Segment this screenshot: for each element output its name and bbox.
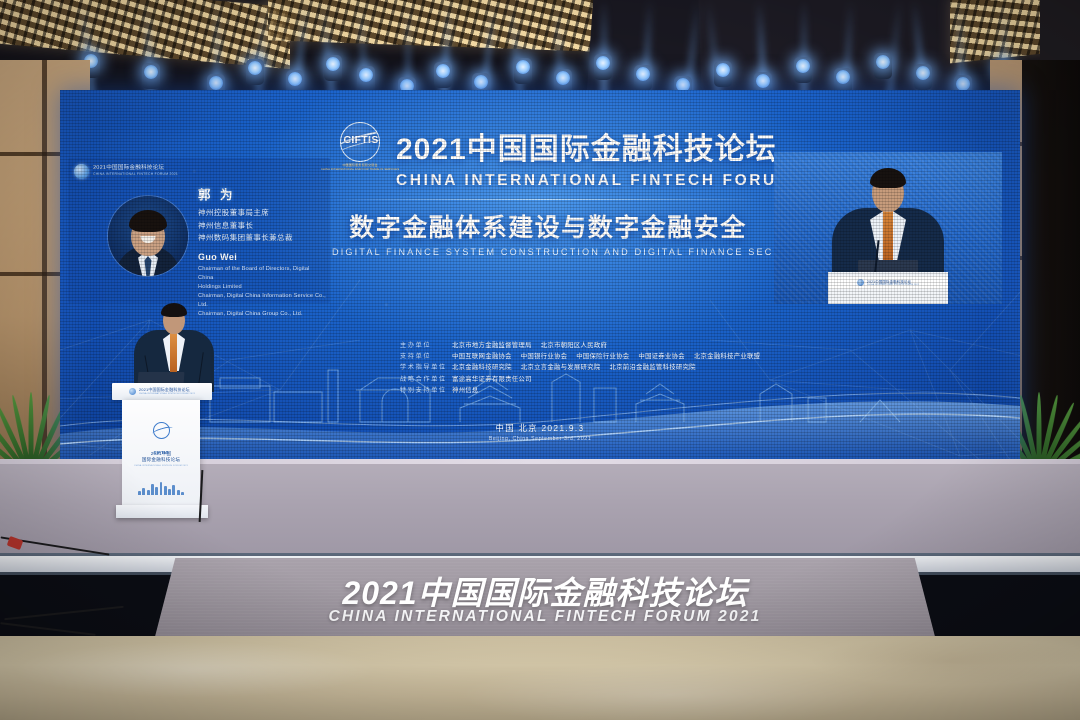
organizer-values: 北京市地方金融监督管理局北京市朝阳区人民政府 (452, 340, 607, 349)
speaker-title-en: Chairman, Digital China Group Co., Ltd. (198, 310, 326, 319)
organizer-row: 战略合作单位富途高华证券有限责任公司 (400, 374, 870, 383)
ciftis-globe-icon: CIFTIS (153, 422, 170, 439)
podium-body: CIFTIS 2021中国 国际金融科技论坛 CHINA INTERNATION… (122, 400, 200, 505)
ceiling-light-panel (268, 0, 598, 52)
floor-cable (4, 606, 124, 621)
forum-theme-en: DIGITAL FINANCE SYSTEM CONSTRUCTION AND … (332, 247, 764, 257)
stage-light-fixture (794, 57, 812, 83)
feed-podium-nameplate: 2021中国国际金融科技论坛 CHINA INTERNATIONAL FINTE… (828, 276, 948, 289)
ciftis-globe-icon (857, 279, 864, 286)
organizer-name: 富途高华证券有限责任公司 (452, 374, 532, 383)
skyline-bar (155, 487, 158, 495)
organizer-row: 特别支持单位神州信息 (400, 385, 870, 394)
speaker-name-en: Guo Wei (198, 252, 326, 262)
organizer-name: 北京金融科技产业联盟 (694, 351, 760, 360)
conference-stage-scene: 2021中国国际金融科技论坛 CHINA INTERNATIONAL FINTE… (0, 0, 1080, 720)
stage-light-fixture (874, 53, 892, 79)
speaker-title-cn: 神州数码集团董事长兼总裁 (198, 232, 326, 245)
stage-light-fixture (357, 66, 375, 92)
organizer-name: 中国证券业协会 (638, 351, 684, 360)
organizer-name: 北京立言金融与发展研究院 (521, 362, 601, 371)
ciftis-globe-icon: CIFTIS (340, 122, 380, 162)
organizer-values: 中国互联网金融协会中国银行业协会中国保险行业协会中国证券业协会北京金融科技产业联… (452, 351, 760, 360)
card-corner-logo: 2021中国国际金融科技论坛 CHINA INTERNATIONAL FINTE… (74, 162, 204, 180)
organizer-values: 富途高华证券有限责任公司 (452, 374, 532, 383)
live-video-feed: 2021中国国际金融科技论坛 CHINA INTERNATIONAL FINTE… (774, 152, 1002, 304)
organizer-name: 北京金融科技研究院 (452, 362, 512, 371)
light-beam (600, 0, 608, 95)
speaker-name-cn: 郭 为 (198, 184, 326, 203)
skyline-bar (168, 489, 171, 495)
organizer-name: 中国银行业协会 (521, 351, 567, 360)
organizer-values: 神州信息 (452, 385, 479, 394)
podium: 2021中国国际金融科技论坛 CHINA INTERNATIONAL FINTE… (116, 383, 208, 518)
feed-podium: 2021中国国际金融科技论坛 CHINA INTERNATIONAL FINTE… (828, 272, 948, 304)
speaker-titles-cn: 神州控股董事局主席 神州信息董事长 神州数码集团董事长兼总裁 (198, 207, 326, 245)
podium-nameplate-cn: 2021中国国际金融科技论坛 (139, 388, 195, 392)
avatar (108, 196, 188, 276)
speaker-title-en: Chairman of the Board of Directors, Digi… (198, 265, 326, 283)
ciftis-wordmark: CIFTIS (341, 134, 380, 146)
stage-light-fixture (634, 65, 652, 91)
speaker-info-card: 2021中国国际金融科技论坛 CHINA INTERNATIONAL FINTE… (68, 158, 330, 303)
forum-title-block: CIFTIS 中国国际服务贸易交易会 CHINA INTERNATIONAL F… (332, 122, 764, 257)
organizer-name: 北京市朝阳区人民政府 (541, 340, 607, 349)
front-sign-title-cn: 2021中国国际金融科技论坛 (150, 568, 940, 614)
skyline-bar (160, 482, 163, 495)
speaker-title-cn: 神州控股董事局主席 (198, 207, 326, 220)
organizer-row: 学术指导单位北京金融科技研究院北京立言金融与发展研究院北京前沿金融监管科技研究院 (400, 362, 870, 371)
forum-theme-cn: 数字金融体系建设与数字金融安全 (332, 208, 764, 244)
podium-nameplate: 2021中国国际金融科技论坛 CHINA INTERNATIONAL FINTE… (112, 383, 212, 400)
organizer-label: 战略合作单位 (400, 374, 452, 383)
skyline-bar (172, 485, 175, 495)
card-logo-cn: 2021中国国际金融科技论坛 (93, 166, 178, 172)
page-title: 2021中国国际金融科技论坛 (396, 124, 777, 168)
organizer-name: 中国互联网金融协会 (452, 351, 512, 360)
organizer-row: 支持单位中国互联网金融协会中国银行业协会中国保险行业协会中国证券业协会北京金融科… (400, 351, 870, 360)
ciftis-sub-en: CHINA INTERNATIONAL FAIR FOR TRADE IN SE… (321, 168, 399, 171)
organizer-label: 特别支持单位 (400, 385, 452, 394)
podium-skyline-graphic (138, 481, 184, 495)
organizer-name: 中国保险行业协会 (576, 351, 629, 360)
page-title-en: CHINA INTERNATIONAL FINTECH FORUM 2021 (396, 172, 764, 190)
stage-light-fixture (514, 58, 532, 84)
podium-base (116, 505, 208, 518)
organizer-values: 北京金融科技研究院北京立言金融与发展研究院北京前沿金融监管科技研究院 (452, 362, 696, 371)
skyline-bar (181, 492, 184, 495)
speaker-text-block: 郭 为 神州控股董事局主席 神州信息董事长 神州数码集团董事长兼总裁 Guo W… (198, 184, 326, 319)
organizer-name: 北京前沿金融监管科技研究院 (609, 362, 695, 371)
stage-light-fixture (914, 64, 932, 90)
speaker-figure-sash (170, 333, 177, 373)
stage-light-fixture (714, 61, 732, 87)
venue-floor (0, 636, 1080, 720)
skyline-bar (177, 490, 180, 495)
front-sign-title-en: CHINA INTERNATIONAL FINTECH FORUM 2021 (150, 608, 940, 626)
card-logo-en: CHINA INTERNATIONAL FINTECH FORUM 2021 (93, 173, 178, 176)
speaker-titles-en: Chairman of the Board of Directors, Digi… (198, 265, 326, 319)
stage-light-fixture (324, 55, 342, 81)
organizer-label: 支持单位 (400, 351, 452, 360)
ciftis-globe-icon (74, 164, 89, 179)
feed-caption-en: CHINA INTERNATIONAL FINTECH FORUM 2021 (867, 284, 919, 286)
speaker-title-cn: 神州信息董事长 (198, 220, 326, 233)
ciftis-globe-icon (129, 388, 136, 395)
organizer-credits: 主办单位北京市地方金融监督管理局北京市朝阳区人民政府支持单位中国互联网金融协会中… (400, 340, 870, 396)
speaker-title-en: Chairman, Digital China Information Serv… (198, 292, 326, 310)
organizer-row: 主办单位北京市地方金融监督管理局北京市朝阳区人民政府 (400, 340, 870, 349)
stage-light-fixture (246, 59, 264, 85)
stage-light-fixture (594, 54, 612, 80)
stage-light-fixture (434, 62, 452, 88)
stage-light-fixture (142, 63, 160, 89)
podium-crest-en: CHINA INTERNATIONAL FINTECH FORUM 2021 (124, 465, 198, 467)
organizer-name: 神州信息 (452, 385, 479, 394)
speaker-title-en: Holdings Limited (198, 283, 326, 292)
skyline-bar (138, 491, 141, 495)
ciftis-logo: CIFTIS 中国国际服务贸易交易会 CHINA INTERNATIONAL F… (332, 122, 388, 171)
podium-crest-wordmark: CIFTIS (154, 450, 169, 455)
podium-crest: CIFTIS 2021中国 国际金融科技论坛 CHINA INTERNATION… (124, 422, 198, 467)
floor-cable (0, 622, 96, 636)
speaker-figure-hair (161, 303, 187, 317)
skyline-bar (147, 490, 150, 495)
title-divider (332, 199, 764, 200)
podium-crest-cn-line2: 国际金融科技论坛 (124, 457, 198, 463)
podium-nameplate-en: CHINA INTERNATIONAL FINTECH FORUM 2021 (139, 393, 195, 395)
organizer-label: 主办单位 (400, 340, 452, 349)
skyline-bar (151, 484, 154, 495)
skyline-bar (164, 486, 167, 495)
skyline-bar (142, 488, 145, 495)
organizer-name: 北京市地方金融监督管理局 (452, 340, 532, 349)
organizer-label: 学术指导单位 (400, 362, 452, 371)
